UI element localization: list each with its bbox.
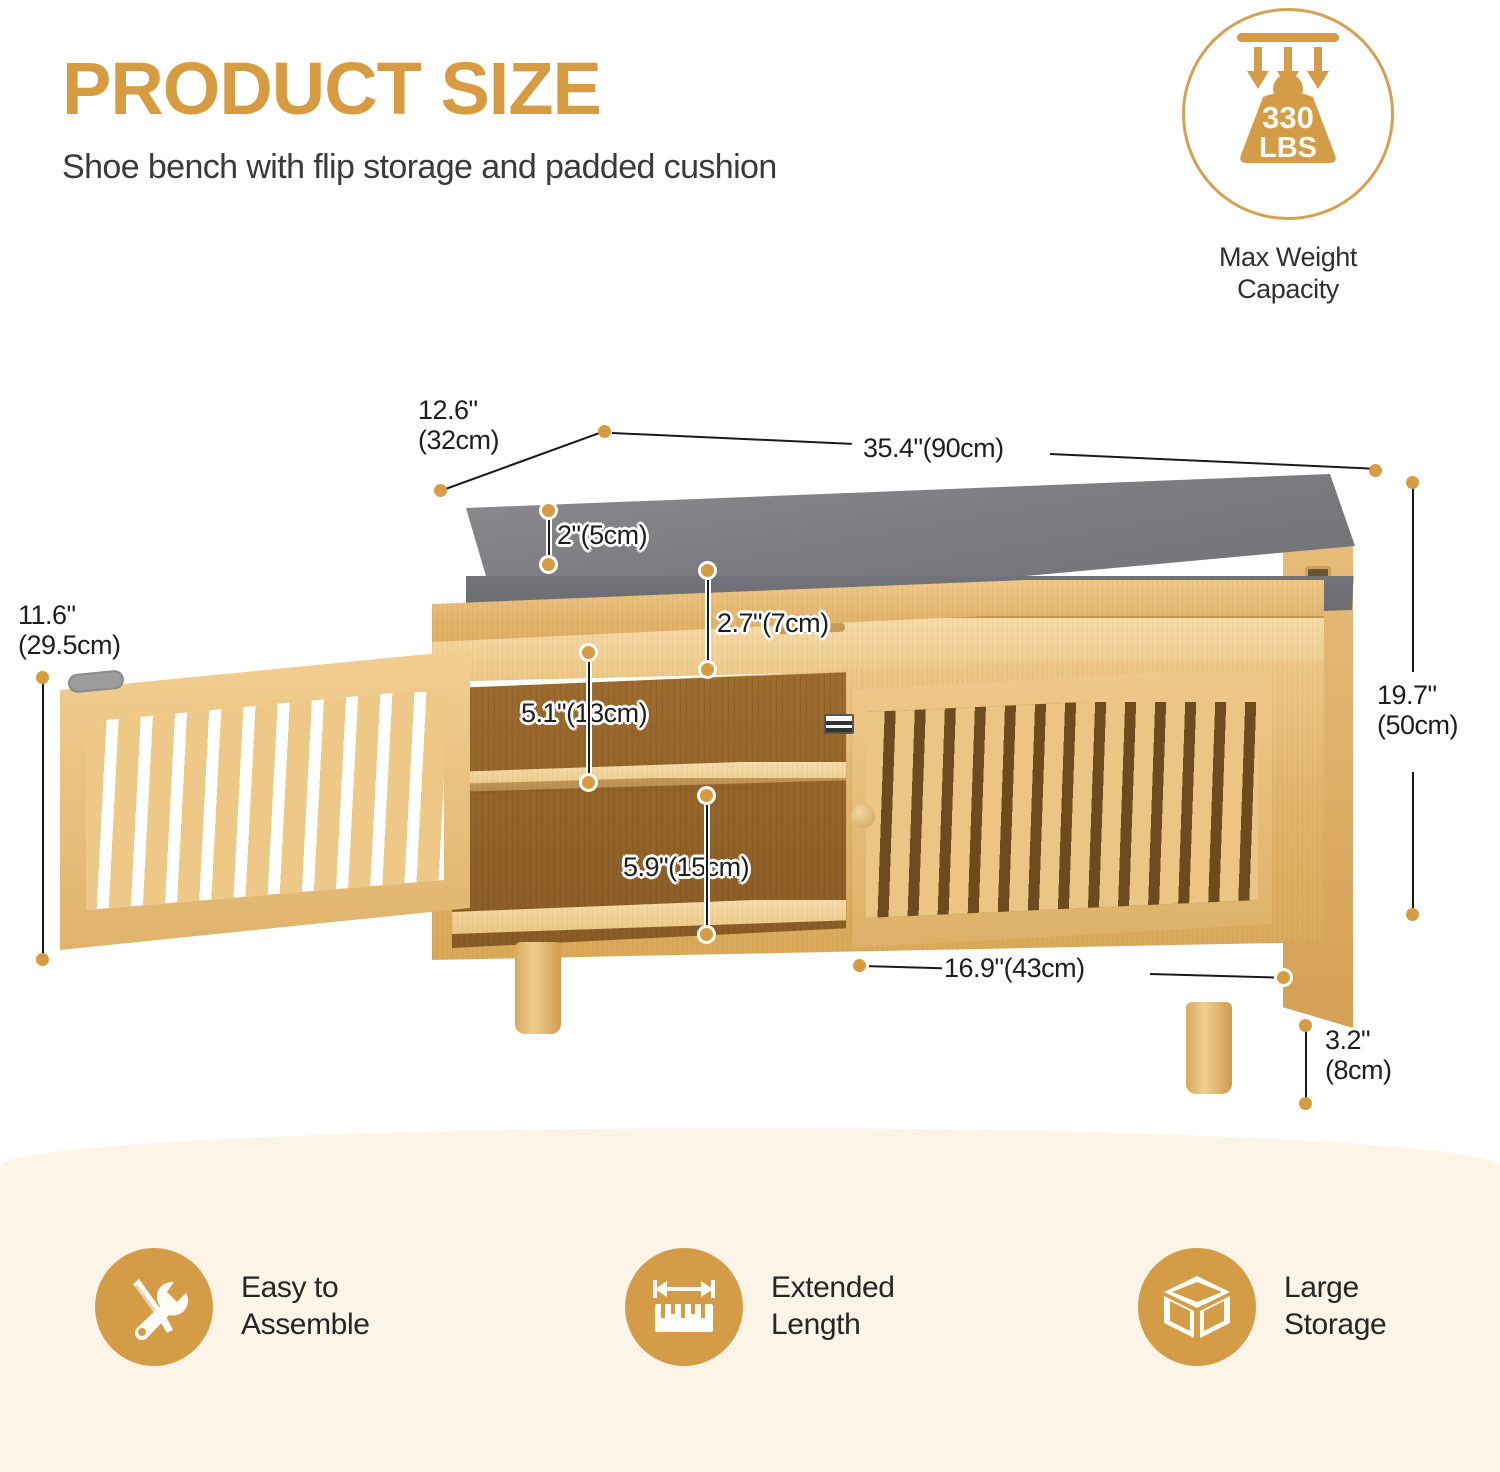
weight-value: 330 bbox=[1262, 100, 1314, 135]
dimension-label-depth: 12.6" (32cm) bbox=[418, 395, 499, 455]
dimension-dot-depth-end bbox=[598, 425, 611, 438]
door-latch-icon bbox=[824, 714, 854, 734]
dimension-label-door-width: 16.9"(43cm) bbox=[944, 953, 1085, 983]
feature-label: Large Storage bbox=[1284, 1270, 1386, 1343]
bench-leg-left bbox=[515, 942, 561, 1034]
feature-extended-length: Extended Length bbox=[625, 1248, 895, 1366]
feature-easy-to-assemble: Easy to Assemble bbox=[95, 1248, 370, 1366]
bench-open-door-panel[interactable] bbox=[60, 650, 470, 950]
dimension-dot-width-end bbox=[1369, 464, 1382, 477]
dimension-line-cushion bbox=[548, 510, 550, 565]
dimension-label-shelf-lower: 5.9"(15cm) bbox=[623, 852, 749, 882]
weight-badge-caption: Max Weight Capacity bbox=[1182, 242, 1394, 306]
header: PRODUCT SIZE Shoe bench with flip storag… bbox=[62, 52, 777, 187]
dimension-label-shelf-upper: 5.1"(13cm) bbox=[521, 698, 647, 728]
dimension-dot-door-width-end bbox=[1277, 971, 1290, 984]
dimension-label-total-height: 19.7" (50cm) bbox=[1377, 680, 1458, 740]
dimension-dot-flip-top bbox=[701, 564, 714, 577]
dimension-line-total-height bbox=[1412, 482, 1414, 672]
dimension-dot-leg-bottom bbox=[1299, 1097, 1312, 1110]
feature-label: Easy to Assemble bbox=[241, 1270, 370, 1343]
dimension-line-total-height-lower bbox=[1412, 772, 1414, 914]
dimension-line-leg-height bbox=[1305, 1025, 1307, 1103]
max-weight-capacity-badge: 330 LBS Max Weight Capacity bbox=[1182, 8, 1394, 306]
dimension-line-flip-drawer bbox=[707, 570, 709, 670]
feature-label: Extended Length bbox=[771, 1270, 895, 1343]
feature-strip: Easy to Assemble bbox=[0, 1128, 1500, 1472]
weight-unit: LBS bbox=[1259, 132, 1317, 164]
dimension-line-width-left bbox=[612, 432, 852, 445]
door-knob[interactable] bbox=[851, 804, 875, 828]
bench-closed-door[interactable] bbox=[852, 672, 1272, 948]
dimension-dot-shelf-upper-top bbox=[582, 646, 595, 659]
dimension-dot-depth-start bbox=[434, 484, 447, 497]
dimension-line-door-panel bbox=[42, 677, 44, 959]
dimension-line-shelf-lower bbox=[706, 795, 708, 935]
dimension-line-door-width-left bbox=[862, 965, 942, 969]
dimension-dot-leg-top bbox=[1299, 1019, 1312, 1032]
weight-load-icon: 330 LBS bbox=[1185, 11, 1391, 217]
feature-large-storage: Large Storage bbox=[1138, 1248, 1386, 1366]
dimension-dot-door-panel-bottom bbox=[36, 953, 49, 966]
dimension-label-flip-drawer: 2.7"(7cm) bbox=[717, 608, 829, 638]
weight-badge-circle: 330 LBS bbox=[1182, 8, 1394, 220]
dimension-dot-total-bottom bbox=[1406, 908, 1419, 921]
wrench-screwdriver-icon bbox=[95, 1248, 213, 1366]
dimension-dot-shelf-lower-top bbox=[700, 789, 713, 802]
page-subtitle: Shoe bench with flip storage and padded … bbox=[62, 148, 777, 187]
dimension-line-width-right bbox=[1050, 453, 1375, 470]
ruler-measure-icon bbox=[625, 1248, 743, 1366]
dimension-label-leg-height: 3.2" (8cm) bbox=[1325, 1025, 1392, 1085]
dimension-dot-total-top bbox=[1406, 476, 1419, 489]
product-diagram: 12.6" (32cm) 35.4"(90cm) 2"(5cm) 2.7"(7c… bbox=[0, 380, 1500, 1100]
bench-leg-right bbox=[1186, 1002, 1232, 1094]
dimension-dot-door-width-start bbox=[853, 959, 866, 972]
dimension-dot-shelf-upper-bottom bbox=[582, 776, 595, 789]
dimension-line-shelf-upper bbox=[588, 652, 590, 782]
door-slats bbox=[866, 702, 1258, 918]
dimension-dot-flip-bottom bbox=[701, 663, 714, 676]
dimension-label-width: 35.4"(90cm) bbox=[863, 433, 1004, 463]
dimension-dot-shelf-lower-bottom bbox=[700, 928, 713, 941]
dimension-dot-cushion-bottom bbox=[542, 558, 555, 571]
dimension-dot-door-panel-top bbox=[36, 671, 49, 684]
dimension-dot-cushion-top bbox=[542, 504, 555, 517]
dimension-line-door-width-right bbox=[1150, 973, 1283, 979]
open-box-icon bbox=[1138, 1248, 1256, 1366]
dimension-label-cushion: 2"(5cm) bbox=[557, 520, 647, 550]
page-title: PRODUCT SIZE bbox=[62, 52, 777, 126]
dimension-label-door-panel: 11.6" (29.5cm) bbox=[18, 600, 121, 660]
open-door-slats bbox=[86, 692, 444, 910]
